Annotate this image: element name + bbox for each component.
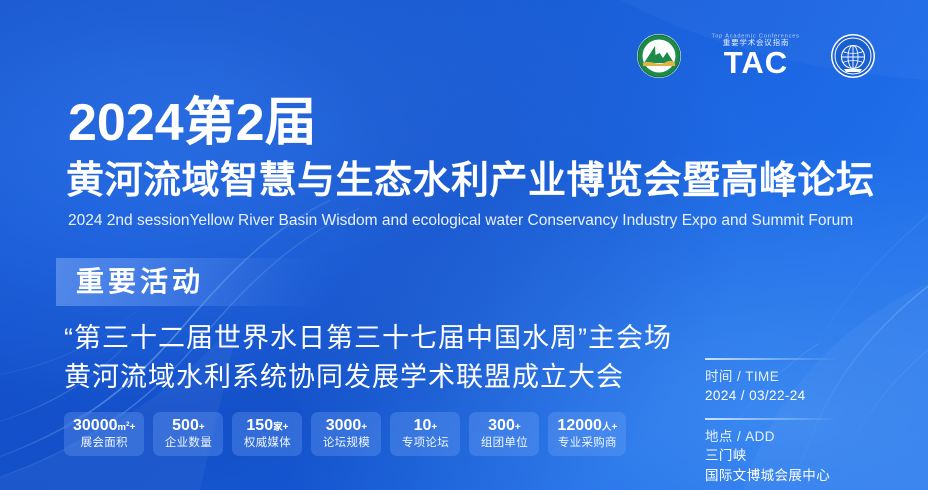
tac-logo-wordmark: TAC	[724, 47, 788, 78]
stat-box: 12000人+专业采购商	[548, 412, 626, 456]
address-divider	[705, 418, 837, 420]
stat-box: 150家+权威媒体	[232, 412, 302, 456]
main-title: 黄河流域智慧与生态水利产业博览会暨高峰论坛	[66, 162, 875, 202]
address-info-block: 地点 / ADD 三门峡 国际文博城会展中心	[705, 418, 895, 485]
tac-logo: Top Academic Conferences 重要学术会议指南 TAC	[708, 34, 804, 79]
subtitle-english: 2024 2nd sessionYellow River Basin Wisdo…	[68, 212, 853, 231]
stat-box: 500+企业数量	[153, 412, 223, 456]
stat-label: 专业采购商	[557, 437, 617, 450]
stat-number: 500	[172, 417, 199, 434]
address-label: 地点 / ADD	[705, 428, 895, 446]
stat-value: 500+	[162, 418, 214, 435]
stat-label: 专项论坛	[399, 437, 451, 450]
stat-label: 组团单位	[478, 437, 530, 450]
year-title: 2024第2届	[68, 97, 317, 149]
stat-label: 权威媒体	[241, 437, 293, 450]
stat-number: 12000	[557, 417, 602, 434]
stat-value: 12000人+	[557, 418, 617, 435]
stat-value: 150家+	[241, 418, 293, 435]
stat-number: 300	[488, 417, 515, 434]
stat-plus-sign: +	[361, 422, 367, 433]
expo-banner: Top Academic Conferences 重要学术会议指南 TAC 20…	[0, 0, 928, 490]
important-activity-badge: 重要活动	[56, 258, 328, 306]
stat-unit: m2	[118, 422, 130, 433]
stat-value: 10+	[399, 418, 451, 435]
tac-logo-en-tagline: Top Academic Conferences	[712, 33, 800, 39]
stat-box: 10+专项论坛	[390, 412, 460, 456]
stat-box: 3000+论坛规模	[311, 412, 381, 456]
time-divider	[705, 358, 837, 360]
stat-number: 150	[246, 417, 273, 434]
stat-plus-sign: +	[431, 422, 437, 433]
important-activity-label: 重要活动	[76, 268, 204, 296]
stats-row: 30000m2+展会面积500+企业数量150家+权威媒体3000+论坛规模10…	[64, 412, 626, 456]
stat-label: 论坛规模	[320, 437, 372, 450]
stat-unit: 家	[273, 422, 283, 433]
event-line-2: 黄河流域水利系统协同发展学术联盟成立大会	[64, 364, 624, 391]
stat-plus-sign: +	[130, 422, 136, 433]
stat-label: 企业数量	[162, 437, 214, 450]
stat-value: 30000m2+	[73, 418, 135, 435]
stat-number: 3000	[326, 417, 362, 434]
event-line-1: “第三十二届世界水日第三十七届中国水周”主会场	[64, 325, 672, 352]
time-label: 时间 / TIME	[705, 368, 895, 386]
time-value: 2024 / 03/22-24	[705, 386, 895, 406]
mountain-river-emblem-icon	[636, 33, 682, 79]
logo-row: Top Academic Conferences 重要学术会议指南 TAC	[636, 33, 876, 79]
stat-unit: 人	[602, 422, 612, 433]
stat-value: 300+	[478, 418, 530, 435]
stat-box: 30000m2+展会面积	[64, 412, 144, 456]
stat-plus-sign: +	[283, 422, 289, 433]
globe-emblem-icon	[830, 33, 876, 79]
address-city: 三门峡	[705, 446, 895, 466]
address-venue: 国际文博城会展中心	[705, 466, 895, 486]
stat-label: 展会面积	[73, 437, 135, 450]
stat-box: 300+组团单位	[469, 412, 539, 456]
stat-number: 30000	[73, 417, 118, 434]
stat-plus-sign: +	[199, 422, 205, 433]
stat-plus-sign: +	[611, 422, 617, 433]
stat-value: 3000+	[320, 418, 372, 435]
stat-number: 10	[414, 417, 432, 434]
stat-plus-sign: +	[515, 422, 521, 433]
time-info-block: 时间 / TIME 2024 / 03/22-24	[705, 358, 895, 406]
